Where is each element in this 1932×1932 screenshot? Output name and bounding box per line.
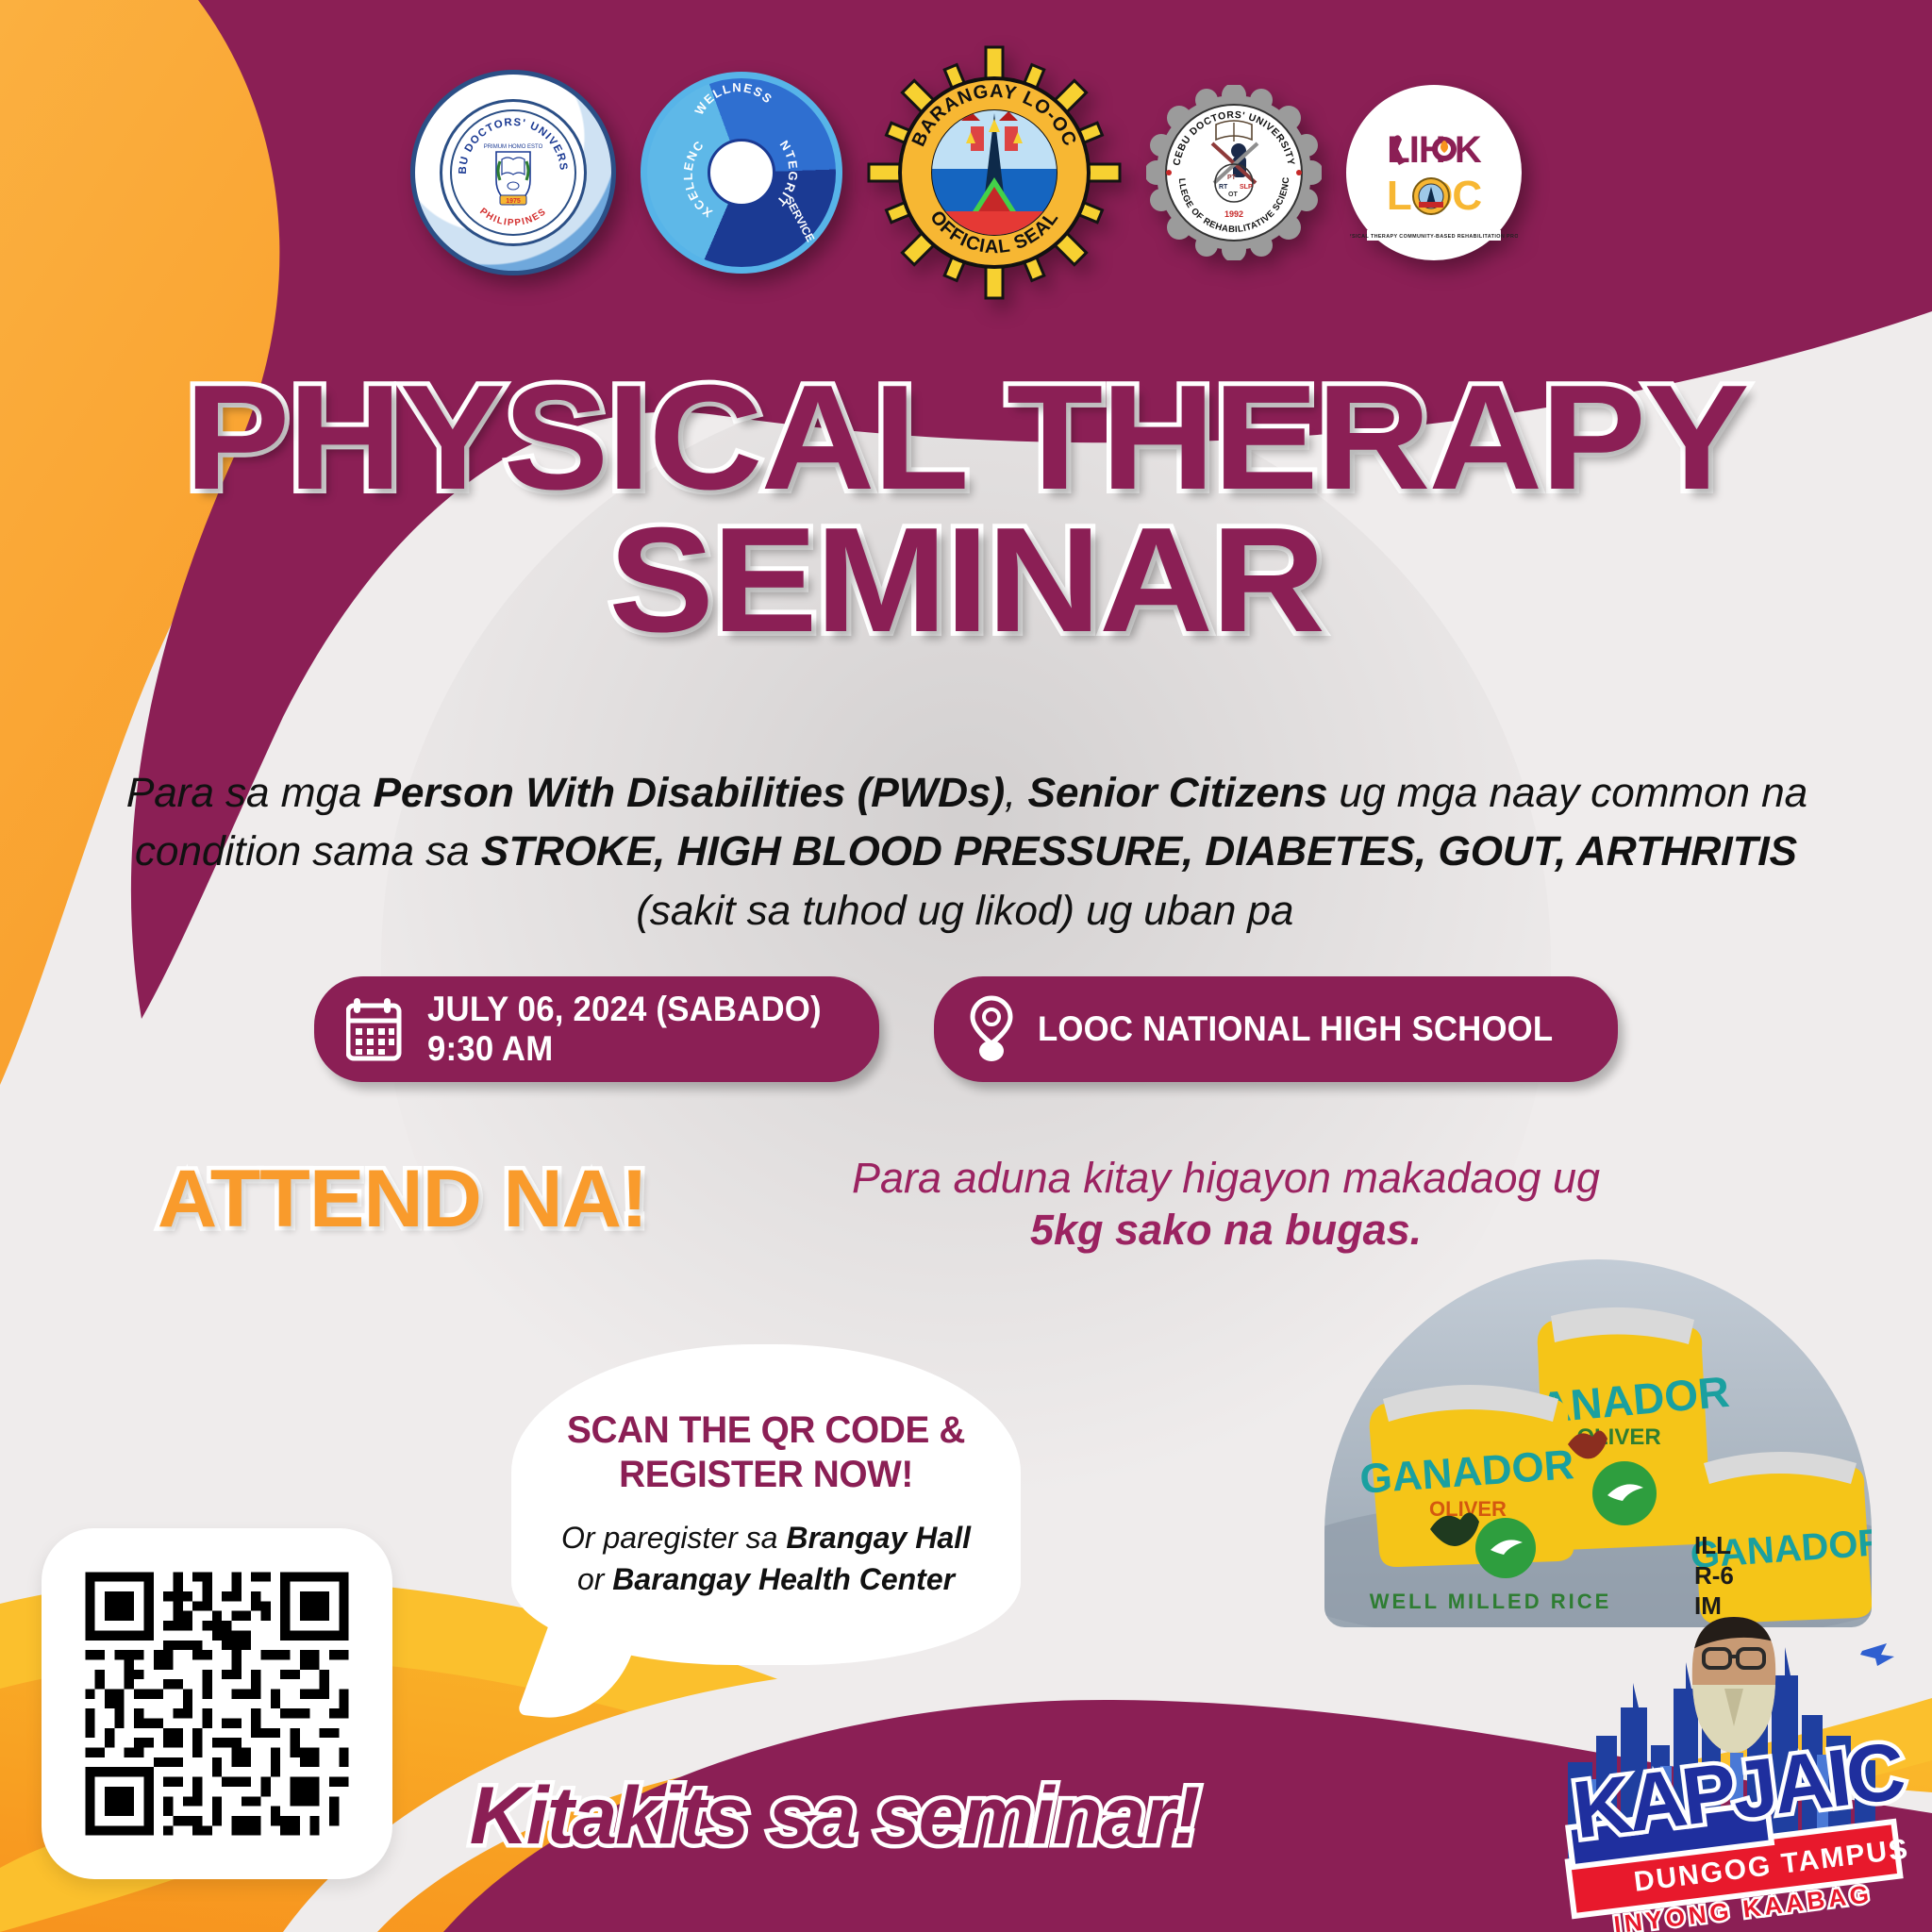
bubble-seg-1: Brangay Hall — [786, 1521, 971, 1555]
prize-note: Para aduna kitay higayon makadaog ug 5kg… — [680, 1153, 1932, 1257]
calendar-icon — [346, 996, 407, 1062]
svg-text:1992: 1992 — [1224, 209, 1243, 219]
bubble-seg-3: Barangay Health Center — [612, 1562, 955, 1596]
svg-text:ILL: ILL — [1694, 1531, 1731, 1559]
prize-line-2: 5kg sako na bugas. — [680, 1204, 1772, 1257]
lead-seg-3: Senior Citizens — [1027, 770, 1328, 816]
date-time-label: JULY 06, 2024 (SABADO) 9:30 AM — [427, 990, 822, 1069]
kapjaic-campaign-badge: DUNGOG TAMPUS KAPJAIC INYONG KAABAG — [1545, 1594, 1923, 1932]
svg-text:WELLNESS: WELLNESS — [691, 80, 775, 117]
attend-and-prize-row: ATTEND NA! Para aduna kitay higayon maka… — [0, 1153, 1932, 1257]
location-pin-icon — [966, 994, 1017, 1064]
poster-canvas: CEBU DOCTORS' UNIVERSITY PHILIPPINES PRI… — [0, 0, 1932, 1932]
title-line-2: SEMINAR — [0, 512, 1932, 649]
core-values-seal: WELLNESS INTEGRITY EXCELLENCE SERVICE — [641, 72, 842, 274]
venue-label: LOOC NATIONAL HIGH SCHOOL — [1038, 1009, 1553, 1049]
svg-text:INTEGRITY: INTEGRITY — [647, 78, 801, 209]
date-time-pill[interactable]: JULY 06, 2024 (SABADO) 9:30 AM — [314, 976, 878, 1082]
svg-text:SERVICE: SERVICE — [782, 194, 817, 244]
venue-pill[interactable]: LOOC NATIONAL HIGH SCHOOL — [934, 976, 1618, 1082]
svg-text:OT: OT — [1228, 192, 1238, 198]
lead-seg-1: Person With Disabilities (PWDs) — [373, 770, 1005, 816]
registration-speech-bubble: SCAN THE QR CODE & REGISTER NOW! Or pare… — [511, 1344, 1021, 1665]
svg-text:RT: RT — [1219, 184, 1228, 191]
lead-seg-0: Para sa mga — [126, 770, 375, 816]
poster-title: PHYSICAL THERAPY SEMINAR — [0, 370, 1932, 650]
lead-seg-5: STROKE, HIGH BLOOD PRESSURE, DIABETES, G… — [480, 828, 1797, 874]
title-line-1: PHYSICAL THERAPY — [0, 370, 1932, 507]
bubble-seg-2: or — [577, 1562, 612, 1596]
partner-logos-row: CEBU DOCTORS' UNIVERSITY PHILIPPINES PRI… — [0, 45, 1932, 300]
svg-text:A PHYSICAL THERAPY COMMUNITY-B: A PHYSICAL THERAPY COMMUNITY-BASED REHAB… — [1350, 234, 1518, 240]
bubble-body: Or paregister sa Brangay Hall or Baranga… — [545, 1517, 987, 1600]
barangay-looc-official-seal: BARANGAY LO-OC OFFICIAL SEAL — [867, 45, 1122, 300]
svg-text:PRIMUM HOMO ESTO: PRIMUM HOMO ESTO — [484, 144, 543, 150]
prize-line-1: Para aduna kitay higayon makadaog ug — [680, 1153, 1772, 1204]
svg-text:SLP: SLP — [1240, 184, 1253, 191]
event-detail-pills: JULY 06, 2024 (SABADO) 9:30 AM LOOC NATI… — [0, 976, 1932, 1082]
svg-text:1975: 1975 — [506, 198, 521, 205]
cebu-doctors-university-seal: CEBU DOCTORS' UNIVERSITY PHILIPPINES PRI… — [410, 70, 616, 275]
bubble-heading: SCAN THE QR CODE & REGISTER NOW! — [552, 1408, 980, 1496]
college-of-rehabilitative-sciences-seal: CEBU DOCTORS' UNIVERSITY COLLEGE OF REHA… — [1146, 85, 1322, 260]
lead-seg-6: (sakit sa tuhod ug likod) ug uban pa — [636, 888, 1294, 934]
core-values-wheel-icon: WELLNESS INTEGRITY EXCELLENCE SERVICE — [647, 78, 836, 267]
bubble-seg-0: Or paregister sa — [561, 1521, 786, 1555]
svg-text:R-6: R-6 — [1694, 1561, 1734, 1590]
kapjaic-badge-graphic: DUNGOG TAMPUS KAPJAIC INYONG KAABAG — [1545, 1594, 1923, 1932]
audience-description: Para sa mga Person With Disabilities (PW… — [111, 764, 1820, 941]
lihok-looc-wordmark-icon: LIH K L OC A PHYSICAL THERAPY COMMUNITY-… — [1350, 89, 1518, 257]
attend-cta: ATTEND NA! — [158, 1153, 647, 1246]
lihok-looc-logo: LIH K L OC A PHYSICAL THERAPY COMMUNITY-… — [1346, 85, 1522, 260]
crs-gear-frame-icon: CEBU DOCTORS' UNIVERSITY COLLEGE OF REHA… — [1146, 85, 1322, 260]
cdu-crest-icon: CEBU DOCTORS' UNIVERSITY PHILIPPINES PRI… — [447, 107, 579, 239]
svg-text:PT: PT — [1227, 175, 1237, 181]
lead-seg-2: , — [1005, 770, 1028, 816]
